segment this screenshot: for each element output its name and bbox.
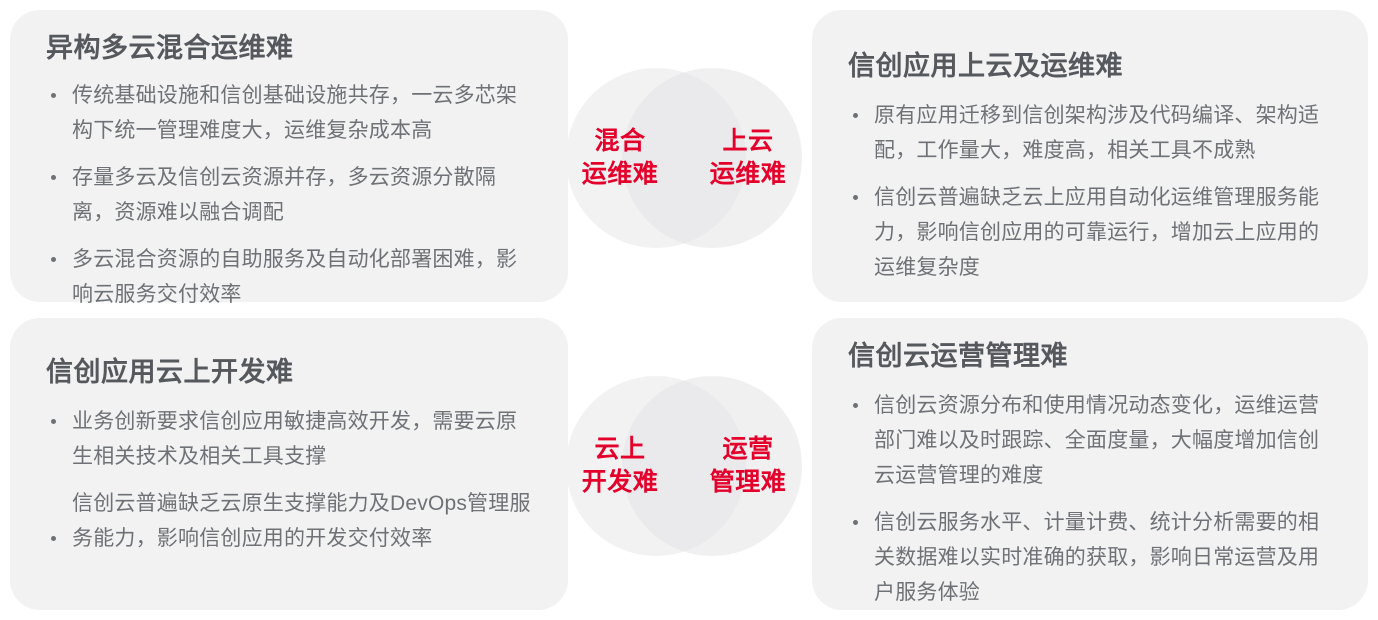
- venn-label-line2: 管理难: [690, 466, 806, 499]
- bullet-item: 多云混合资源的自助服务及自动化部署困难，影响云服务交付效率: [46, 242, 532, 312]
- venn-label-line1: 云上: [562, 433, 678, 466]
- bullet-dot-icon: [853, 403, 858, 408]
- bullet-list: 传统基础设施和信创基础设施共存，一云多芯架构下统一管理难度大，运维复杂成本高 存…: [46, 78, 532, 312]
- venn-label-line2: 开发难: [562, 466, 678, 499]
- bullet-dot-icon: [853, 113, 858, 118]
- venn-diagram-bottom: 云上 开发难 运营 管理难: [566, 376, 802, 556]
- bullet-dot-icon: [51, 419, 56, 424]
- venn-label-line2: 运维难: [690, 158, 806, 191]
- bullet-text: 存量多云及信创云资源并存，多云资源分散隔离，资源难以融合调配: [72, 166, 496, 224]
- bullet-text: 传统基础设施和信创基础设施共存，一云多芯架构下统一管理难度大，运维复杂成本高: [72, 84, 517, 142]
- bullet-item: 传统基础设施和信创基础设施共存，一云多芯架构下统一管理难度大，运维复杂成本高: [46, 78, 532, 148]
- bullet-item: 存量多云及信创云资源并存，多云资源分散隔离，资源难以融合调配: [46, 160, 532, 230]
- venn-label-line2: 运维难: [562, 158, 678, 191]
- venn-label-line1: 上云: [690, 125, 806, 158]
- bullet-dot-icon: [51, 93, 56, 98]
- venn-diagram-top: 混合 运维难 上云 运维难: [566, 68, 802, 248]
- bullet-item: 原有应用迁移到信创架构涉及代码编译、架构适配，工作量大，难度高，相关工具不成熟: [848, 98, 1332, 168]
- card-title: 信创云运营管理难: [848, 318, 1332, 372]
- venn-label-operations-management: 运营 管理难: [690, 433, 806, 499]
- bullet-item: 信创云服务水平、计量计费、统计分析需要的相关数据难以实时准确的获取，影响日常运营…: [848, 505, 1332, 610]
- bullet-list: 业务创新要求信创应用敏捷高效开发，需要云原生相关技术及相关工具支撑 信创云普遍缺…: [46, 404, 532, 556]
- card-xinchuang-app-cloud-development: 信创应用云上开发难 业务创新要求信创应用敏捷高效开发，需要云原生相关技术及相关工…: [10, 318, 568, 610]
- venn-label-line1: 运营: [690, 433, 806, 466]
- bullet-text: 信创云服务水平、计量计费、统计分析需要的相关数据难以实时准确的获取，影响日常运营…: [874, 511, 1319, 604]
- card-title: 信创应用上云及运维难: [848, 10, 1332, 82]
- card-heterogeneous-multicloud-ops: 异构多云混合运维难 传统基础设施和信创基础设施共存，一云多芯架构下统一管理难度大…: [10, 10, 568, 302]
- bullet-text: 信创云普遍缺乏云上应用自动化运维管理服务能力，影响信创应用的可靠运行，增加云上应…: [874, 186, 1319, 279]
- bullet-text: 信创云资源分布和使用情况动态变化，运维运营部门难以及时跟踪、全面度量，大幅度增加…: [874, 394, 1319, 487]
- card-title: 信创应用云上开发难: [46, 318, 532, 388]
- bullet-item: 信创云普遍缺乏云上应用自动化运维管理服务能力，影响信创应用的可靠运行，增加云上应…: [848, 180, 1332, 285]
- bullet-text: 原有应用迁移到信创架构涉及代码编译、架构适配，工作量大，难度高，相关工具不成熟: [874, 104, 1319, 162]
- bullet-item: 业务创新要求信创应用敏捷高效开发，需要云原生相关技术及相关工具支撑: [46, 404, 532, 474]
- bullet-list: 信创云资源分布和使用情况动态变化，运维运营部门难以及时跟踪、全面度量，大幅度增加…: [848, 388, 1332, 610]
- infographic-stage: 异构多云混合运维难 传统基础设施和信创基础设施共存，一云多芯架构下统一管理难度大…: [0, 0, 1378, 620]
- venn-label-cloud-migration-ops: 上云 运维难: [690, 125, 806, 191]
- card-xinchuang-app-cloud-migration-ops: 信创应用上云及运维难 原有应用迁移到信创架构涉及代码编译、架构适配，工作量大，难…: [812, 10, 1368, 302]
- venn-label-hybrid-ops: 混合 运维难: [562, 125, 678, 191]
- venn-label-line1: 混合: [562, 125, 678, 158]
- bullet-dot-icon: [853, 195, 858, 200]
- bullet-dot-icon: [51, 257, 56, 262]
- bullet-dot-icon: [51, 175, 56, 180]
- bullet-text: 业务创新要求信创应用敏捷高效开发，需要云原生相关技术及相关工具支撑: [72, 410, 517, 468]
- bullet-item: 信创云资源分布和使用情况动态变化，运维运营部门难以及时跟踪、全面度量，大幅度增加…: [848, 388, 1332, 493]
- bullet-dot-icon: [51, 536, 56, 541]
- bullet-item: 信创云普遍缺乏云原生支撑能力及DevOps管理服务能力，影响信创应用的开发交付效…: [46, 486, 532, 556]
- bullet-text: 多云混合资源的自助服务及自动化部署困难，影响云服务交付效率: [72, 248, 517, 306]
- card-title: 异构多云混合运维难: [46, 10, 532, 64]
- card-xinchuang-cloud-operations-management: 信创云运营管理难 信创云资源分布和使用情况动态变化，运维运营部门难以及时跟踪、全…: [812, 318, 1368, 610]
- bullet-dot-icon: [853, 520, 858, 525]
- bullet-list: 原有应用迁移到信创架构涉及代码编译、架构适配，工作量大，难度高，相关工具不成熟 …: [848, 98, 1332, 285]
- bullet-text: 信创云普遍缺乏云原生支撑能力及DevOps管理服务能力，影响信创应用的开发交付效…: [72, 492, 531, 550]
- venn-label-cloud-development: 云上 开发难: [562, 433, 678, 499]
